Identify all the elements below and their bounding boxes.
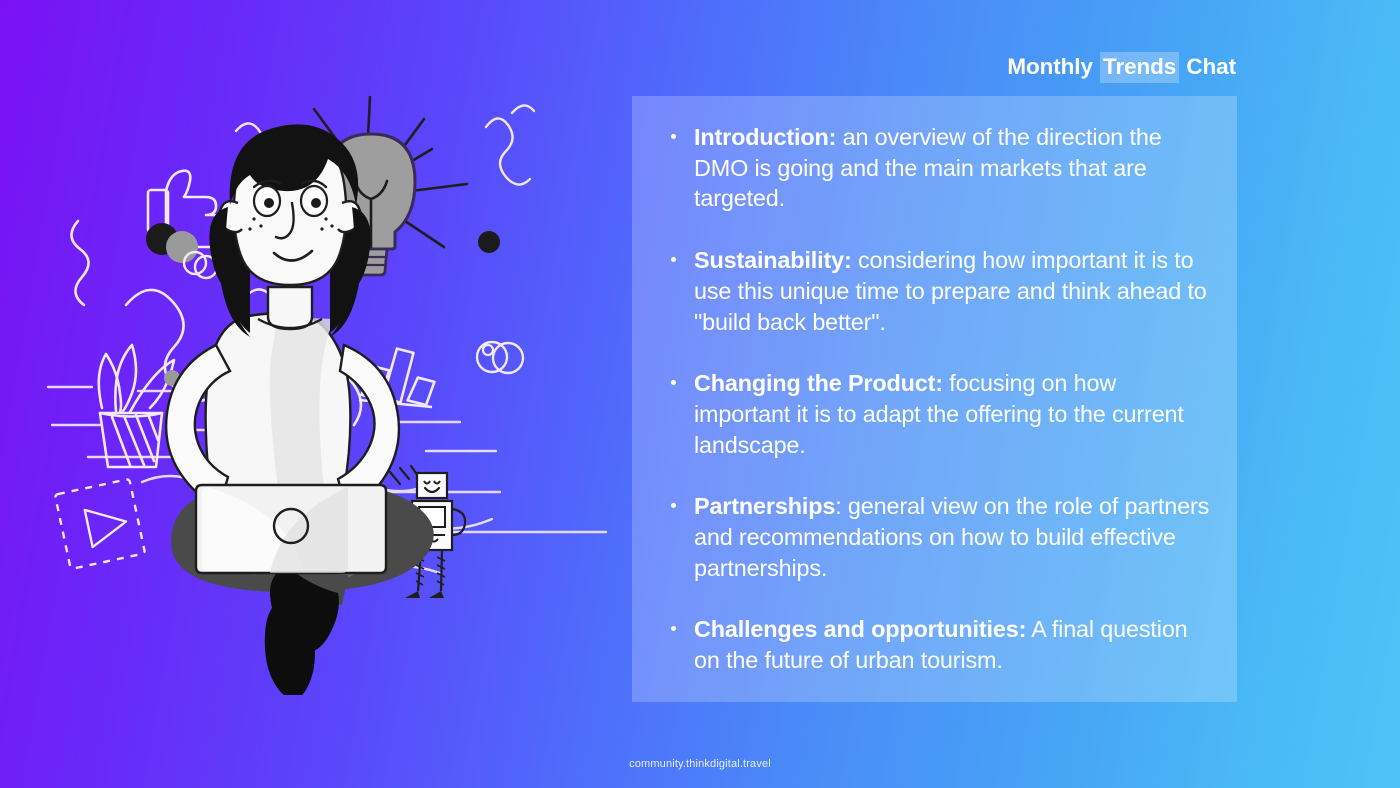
neck [268, 287, 312, 329]
footer-url: community.thinkdigital.travel [0, 758, 1400, 770]
bullet-lead: Challenges and opportunities: [694, 616, 1026, 642]
bullet-lead: Partnerships [694, 493, 835, 519]
play-button-icon [55, 479, 145, 569]
page-title: Monthly Trends Chat [1007, 52, 1236, 83]
list-item: Challenges and opportunities: A final qu… [668, 614, 1215, 675]
title-part1: Monthly [1007, 54, 1093, 80]
bullet-dot-icon [671, 134, 676, 139]
title-highlight: Trends [1100, 52, 1179, 83]
hero-illustration [30, 95, 630, 695]
list-item: Sustainability: considering how importan… [668, 245, 1215, 337]
bullet-lead: Introduction: [694, 124, 836, 150]
bullet-dot-icon [671, 257, 676, 262]
title-part2: Chat [1186, 54, 1236, 80]
potted-plant-icon [99, 345, 174, 467]
bullet-dot-icon [671, 626, 676, 631]
slide-canvas: Monthly Trends Chat Introduction: an ove… [0, 0, 1400, 788]
bullet-dot-icon [671, 380, 676, 385]
list-item: Introduction: an overview of the directi… [668, 122, 1215, 214]
list-item: Changing the Product: focusing on how im… [668, 368, 1215, 460]
bullet-lead: Sustainability: [694, 247, 852, 273]
bullet-list: Introduction: an overview of the directi… [632, 96, 1237, 676]
bullet-dot-icon [671, 503, 676, 508]
list-item: Partnerships: general view on the role o… [668, 491, 1215, 583]
content-card: Introduction: an overview of the directi… [632, 96, 1237, 702]
bullet-lead: Changing the Product: [694, 370, 943, 396]
